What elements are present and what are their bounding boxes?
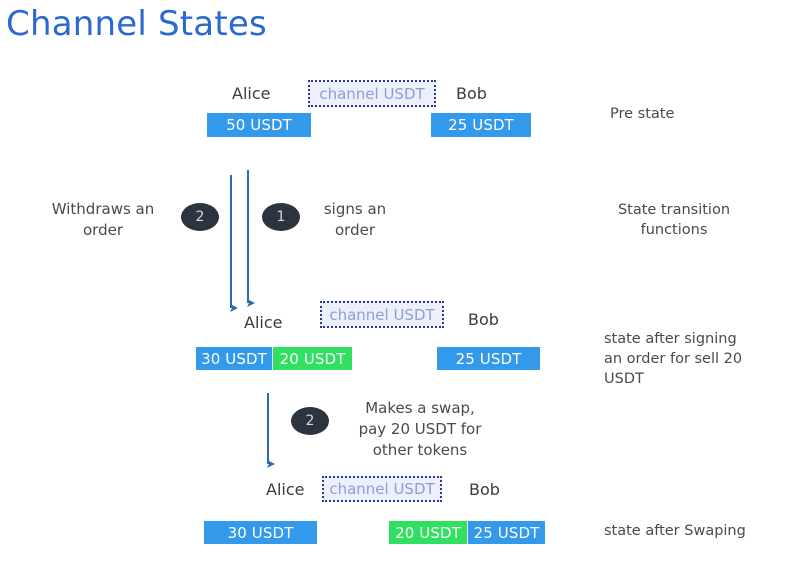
- row-after-swaping-alice-chip-1[interactable]: 30 USDT: [204, 521, 317, 544]
- row-after-swaping-alice-label: Alice: [266, 480, 304, 500]
- transition-1-left-badge[interactable]: 2: [181, 203, 219, 231]
- transition-1-right-badge[interactable]: 1: [262, 203, 300, 231]
- row-after-signing-alice-chip-1[interactable]: 30 USDT: [196, 347, 272, 370]
- transition-1-left-note: Withdraws an order: [38, 199, 168, 241]
- row-after-signing-channel-box[interactable]: channel USDT: [320, 301, 444, 328]
- page-title: Channel States: [6, 2, 267, 46]
- row-pre-state-side-note: Pre state: [610, 104, 674, 124]
- transition-1-right-note: signs an order: [310, 199, 400, 241]
- row-after-swaping-bob-chip-1[interactable]: 20 USDT: [389, 521, 467, 544]
- row-pre-state-channel-label: channel USDT: [319, 85, 424, 103]
- row-after-signing-channel-label: channel USDT: [329, 306, 434, 324]
- row-pre-state-channel-box[interactable]: channel USDT: [308, 80, 436, 107]
- row-after-swaping-channel-label: channel USDT: [329, 480, 434, 498]
- row-pre-state-alice-chip-1[interactable]: 50 USDT: [207, 113, 311, 137]
- transition-2-note: Makes a swap, pay 20 USDT for other toke…: [345, 398, 495, 461]
- row-after-swaping-bob-label: Bob: [469, 480, 500, 500]
- slide-canvas: Channel States Alice channel USDT Bob 50…: [0, 0, 800, 571]
- transition-1-side-note: State transition functions: [604, 200, 744, 240]
- row-after-signing-side-note: state after signing an order for sell 20…: [604, 329, 764, 389]
- row-after-signing-alice-label: Alice: [244, 313, 282, 333]
- row-after-swaping-side-note: state after Swaping: [604, 521, 784, 541]
- row-after-signing-alice-chip-2[interactable]: 20 USDT: [273, 347, 352, 370]
- row-after-swaping-channel-box[interactable]: channel USDT: [322, 476, 442, 502]
- row-after-signing-bob-chip-1[interactable]: 25 USDT: [437, 347, 540, 370]
- row-pre-state-bob-label: Bob: [456, 84, 487, 104]
- row-pre-state-bob-chip-1[interactable]: 25 USDT: [431, 113, 531, 137]
- row-pre-state-alice-label: Alice: [232, 84, 270, 104]
- row-after-signing-bob-label: Bob: [468, 310, 499, 330]
- row-after-swaping-bob-chip-2[interactable]: 25 USDT: [468, 521, 545, 544]
- transition-2-badge[interactable]: 2: [291, 407, 329, 435]
